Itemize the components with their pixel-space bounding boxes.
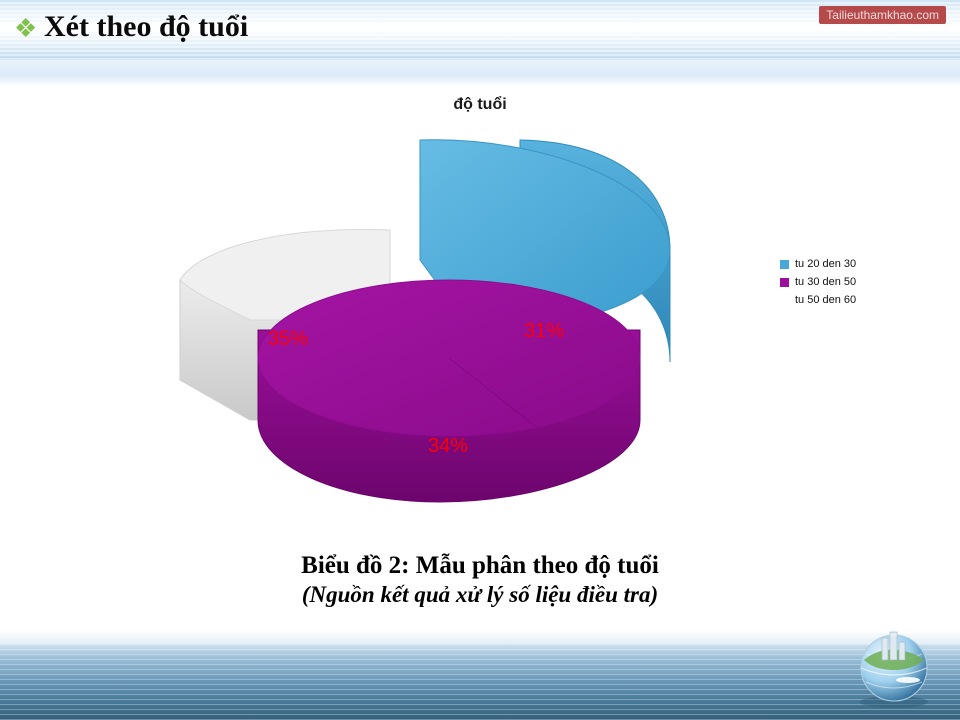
pie-slice-tu-30-den-50 <box>258 280 640 502</box>
legend-label-0: tu 20 den 30 <box>795 258 856 270</box>
slide-footer-water <box>0 644 960 720</box>
slide-header-band-secondary <box>0 60 960 86</box>
pie-data-label-1: 34% <box>428 435 468 458</box>
pie-chart: 31% 34% 35% <box>0 120 960 540</box>
chart-title: độ tuổi <box>0 96 960 114</box>
legend-swatch-icon-2 <box>780 296 789 305</box>
globe-city-icon <box>846 616 942 712</box>
page-title: Xét theo độ tuổi <box>44 10 248 44</box>
diamond-bullet-icon: ❖ <box>14 16 37 42</box>
watermark-label: Tailieuthamkhao.com <box>819 6 946 24</box>
slide-header-band-tertiary <box>0 86 960 94</box>
pie-chart-svg <box>140 130 700 530</box>
caption-line-2: (Nguồn kết quả xử lý số liệu điều tra) <box>0 582 960 608</box>
legend-item-1: tu 30 den 50 <box>780 273 940 291</box>
legend-label-2: tu 50 den 60 <box>795 294 856 306</box>
caption-line-1: Biểu đồ 2: Mẫu phân theo độ tuổi <box>0 552 960 580</box>
legend-label-1: tu 30 den 50 <box>795 276 856 288</box>
chart-caption: Biểu đồ 2: Mẫu phân theo độ tuổi (Nguồn … <box>0 552 960 608</box>
pie-data-label-0: 31% <box>524 320 564 343</box>
legend-item-2: tu 50 den 60 <box>780 291 940 309</box>
legend-swatch-icon-1 <box>780 278 789 287</box>
chart-legend: tu 20 den 30 tu 30 den 50 tu 50 den 60 <box>780 255 940 309</box>
legend-swatch-icon-0 <box>780 260 789 269</box>
footer-gradient-edge <box>0 630 960 644</box>
legend-item-0: tu 20 den 30 <box>780 255 940 273</box>
pie-data-label-2: 35% <box>268 328 308 351</box>
